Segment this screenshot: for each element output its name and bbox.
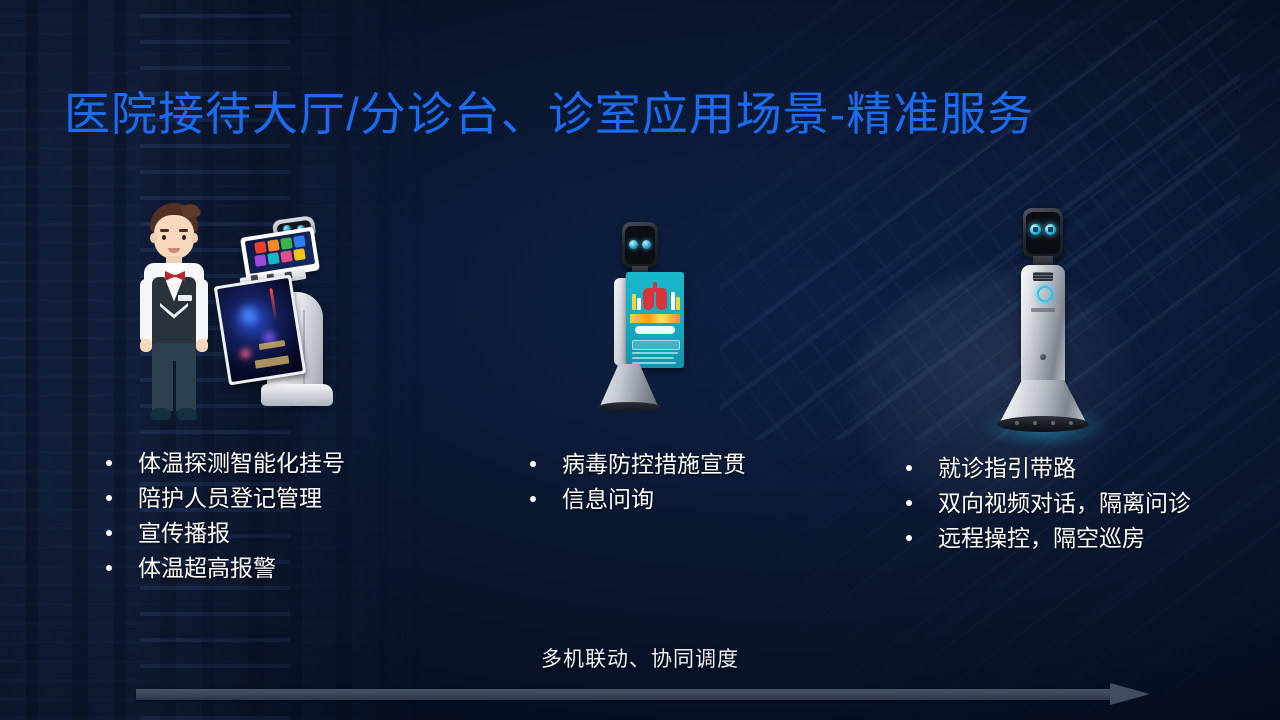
attendant-ear-left-icon [150, 233, 157, 243]
service-robot-illustration [985, 208, 1105, 420]
poster-robot-base-ring [598, 402, 660, 412]
poster-robot-eye-right-icon [642, 240, 651, 249]
attendant-arm-left-icon [140, 279, 152, 343]
poster-vial-1-icon [632, 294, 636, 310]
kiosk-tile-2-icon [267, 239, 280, 252]
poster-robot-base-cone [600, 364, 658, 406]
service-robot-base-sensor-1-icon [1015, 421, 1019, 425]
attendant-name-badge-icon [178, 295, 192, 301]
list-item: 远程操控，隔空巡房 [900, 521, 1191, 556]
service-robot-pupil-right-icon [1048, 227, 1053, 232]
bullet-dot-icon [106, 530, 112, 536]
poster-body-line-2 [632, 357, 674, 359]
list-item: 信息问询 [524, 482, 746, 517]
list-item-label: 体温探测智能化挂号 [138, 450, 345, 476]
list-item: 体温超高报警 [100, 551, 345, 586]
attendant-eye-left-icon [162, 235, 166, 240]
bullet-dot-icon [530, 461, 536, 467]
service-robot-base-sensor-4-icon [1069, 421, 1073, 425]
list-item: 体温探测智能化挂号 [100, 446, 345, 481]
service-robot-torso [1021, 265, 1065, 383]
poster-vial-2-icon [637, 298, 641, 310]
list-item-label: 体温超高报警 [138, 555, 276, 581]
feature-list-2: 病毒防控措施宣贯 信息问询 [524, 447, 746, 517]
service-robot-speaker-vent-icon [1033, 272, 1053, 281]
attendant-ear-right-icon [191, 233, 198, 243]
attendant-hand-right-icon [196, 339, 208, 352]
service-robot-base-ring [997, 416, 1089, 432]
poster-lung-right-icon [656, 288, 667, 310]
poster-body-line-1 [632, 352, 678, 354]
poster-lung-left-icon [643, 288, 654, 310]
page-title: 医院接待大厅/分诊台、诊室应用场景-精准服务 [64, 89, 1034, 141]
list-item: 就诊指引带路 [900, 451, 1191, 486]
poster-subheadline-pill [635, 326, 675, 334]
kiosk-tile-1-icon [254, 241, 267, 254]
progress-arrow-head-icon [1110, 683, 1150, 705]
attendant-shoe-right-icon [177, 408, 197, 420]
service-robot-base-sensor-2-icon [1033, 421, 1037, 425]
list-item: 宣传播报 [100, 516, 345, 551]
list-item-label: 信息问询 [562, 486, 654, 512]
attendant-arm-right-icon [196, 279, 208, 343]
feature-column-2: 病毒防控措施宣贯 信息问询 [524, 447, 746, 517]
poster-input-field-graphic [632, 340, 680, 350]
bullet-dot-icon [106, 460, 112, 466]
bullet-dot-icon [906, 500, 912, 506]
bullet-dot-icon [530, 496, 536, 502]
attendant-eyebrow-right-icon [179, 229, 188, 232]
list-item: 陪护人员登记管理 [100, 481, 345, 516]
poster-robot-eye-left-icon [629, 240, 638, 249]
list-item-label: 双向视频对话，隔离问诊 [938, 490, 1191, 516]
kiosk-screen-nebula-1 [234, 301, 264, 331]
kiosk-tile-3-icon [280, 237, 293, 250]
kiosk-robot-base [261, 384, 333, 406]
feature-list-1: 体温探测智能化挂号 陪护人员登记管理 宣传播报 体温超高报警 [100, 446, 345, 586]
list-item: 双向视频对话，隔离问诊 [900, 486, 1191, 521]
bullet-dot-icon [906, 535, 912, 541]
service-robot-power-button-icon [1040, 354, 1046, 360]
list-item: 病毒防控措施宣贯 [524, 447, 746, 482]
kiosk-tile-7-icon [280, 250, 293, 263]
kiosk-screen-nebula-3 [236, 344, 254, 362]
service-robot-status-indicator-icon [1037, 286, 1053, 302]
attendant-shoe-left-icon [151, 408, 171, 420]
service-robot-pupil-left-icon [1033, 227, 1038, 232]
bullet-dot-icon [906, 465, 912, 471]
bullet-dot-icon [106, 565, 112, 571]
progress-arrow [136, 683, 1150, 705]
kiosk-tile-6-icon [267, 252, 280, 265]
attendant-hand-left-icon [140, 339, 152, 352]
list-item-label: 远程操控，隔空巡房 [938, 525, 1145, 551]
poster-robot-display-screen [626, 272, 684, 368]
poster-vial-4-icon [676, 297, 680, 310]
slide-canvas: 医院接待大厅/分诊台、诊室应用场景-精准服务 [0, 0, 1280, 720]
poster-robot-illustration [592, 222, 702, 418]
list-item-label: 陪护人员登记管理 [138, 485, 322, 511]
service-robot-base-sensor-3-icon [1051, 421, 1055, 425]
feature-column-1: 体温探测智能化挂号 陪护人员登记管理 宣传播报 体温超高报警 [100, 446, 345, 586]
attendant-person-illustration [132, 203, 216, 425]
footer-caption: 多机联动、协同调度 [0, 643, 1280, 673]
kiosk-tile-4-icon [293, 235, 306, 248]
poster-vial-3-icon [671, 292, 675, 310]
service-robot-brand-mark [1031, 308, 1055, 312]
bullet-dot-icon [106, 495, 112, 501]
kiosk-tile-8-icon [293, 248, 306, 261]
attendant-leg-gap-icon [173, 361, 176, 415]
kiosk-robot-illustration [215, 218, 335, 408]
poster-headline-banner [630, 314, 680, 323]
attendant-eye-right-icon [182, 235, 186, 240]
progress-arrow-bar [136, 689, 1114, 700]
feature-list-3: 就诊指引带路 双向视频对话，隔离问诊 远程操控，隔空巡房 [900, 451, 1191, 556]
feature-column-3: 就诊指引带路 双向视频对话，隔离问诊 远程操控，隔空巡房 [900, 451, 1191, 556]
list-item-label: 病毒防控措施宣贯 [562, 451, 746, 477]
list-item-label: 宣传播报 [138, 520, 230, 546]
attendant-eyebrow-left-icon [160, 229, 169, 232]
kiosk-tile-5-icon [254, 254, 267, 267]
poster-body-line-3 [632, 362, 676, 364]
list-item-label: 就诊指引带路 [938, 455, 1076, 481]
